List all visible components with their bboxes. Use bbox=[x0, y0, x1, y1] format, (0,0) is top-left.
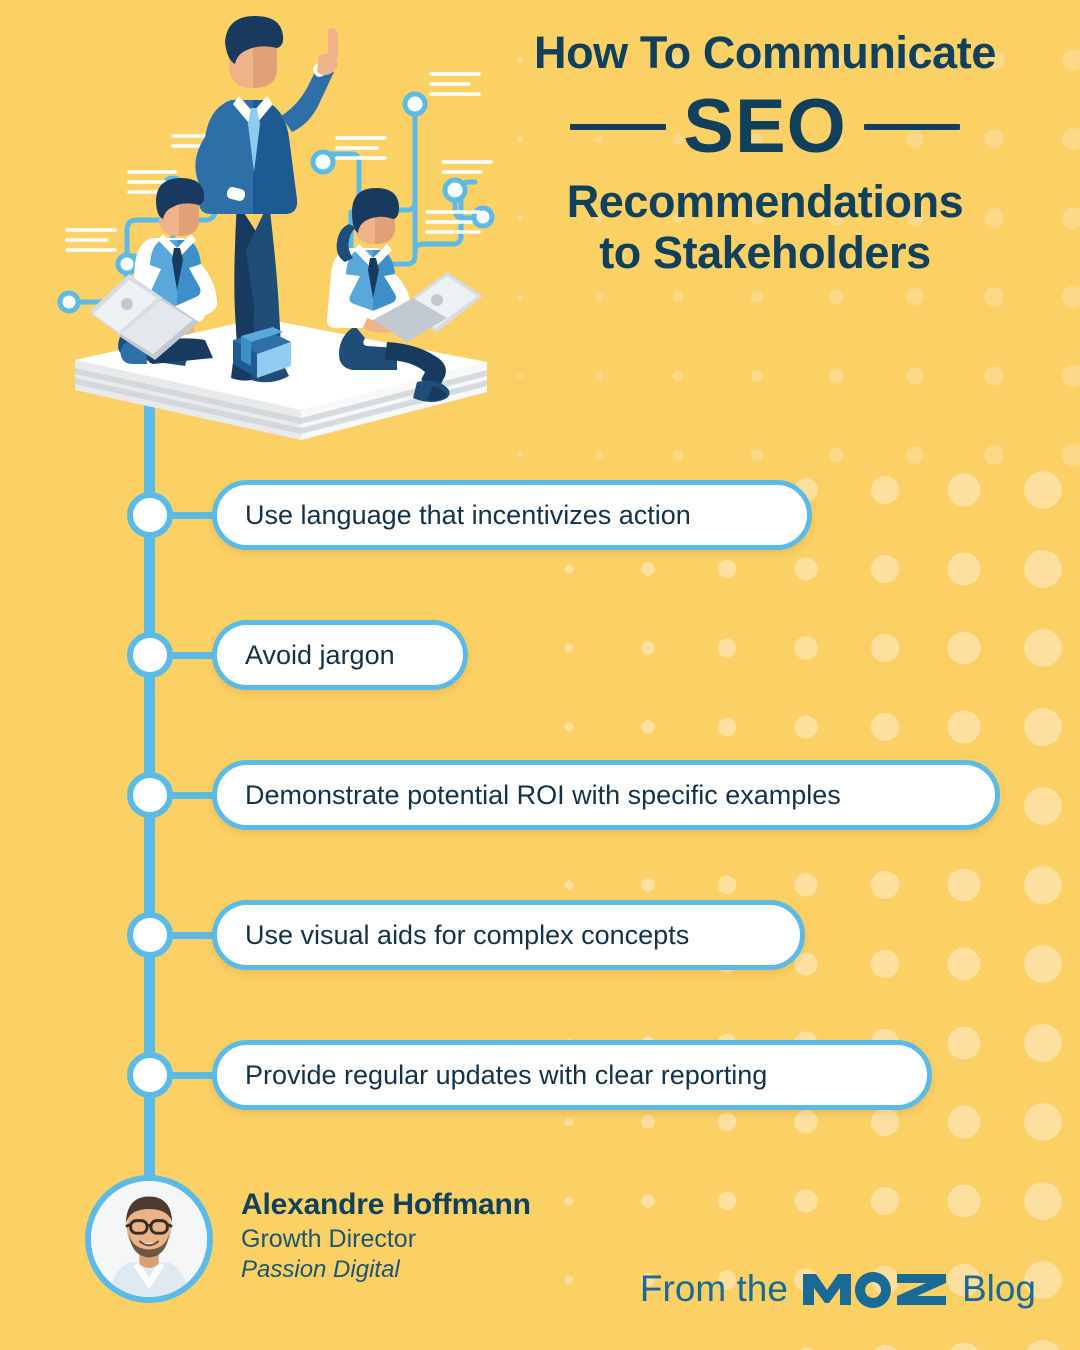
author-block: Alexandre Hoffmann Growth Director Passi… bbox=[85, 1175, 531, 1303]
tip-pill[interactable]: Demonstrate potential ROI with specific … bbox=[212, 760, 1000, 830]
title-line-1: How To Communicate bbox=[500, 28, 1030, 78]
tip-label: Provide regular updates with clear repor… bbox=[245, 1060, 767, 1091]
footer-prefix: From the bbox=[640, 1268, 788, 1310]
tip-pill[interactable]: Provide regular updates with clear repor… bbox=[212, 1040, 932, 1110]
timeline-node-1 bbox=[127, 492, 173, 538]
timeline-node-5 bbox=[127, 1052, 173, 1098]
tip-label: Use visual aids for complex concepts bbox=[245, 920, 689, 951]
page-title: How To Communicate SEO Recommendations t… bbox=[500, 28, 1030, 278]
author-company: Passion Digital bbox=[241, 1256, 531, 1285]
moz-logo-icon bbox=[801, 1268, 949, 1310]
author-role: Growth Director bbox=[241, 1224, 531, 1254]
timeline-connector-1 bbox=[170, 512, 218, 519]
footer-suffix: Blog bbox=[962, 1268, 1036, 1310]
timeline-connector-3 bbox=[170, 792, 218, 799]
tip-label: Use language that incentivizes action bbox=[245, 500, 691, 531]
timeline-connector-4 bbox=[170, 932, 218, 939]
timeline-node-3 bbox=[127, 772, 173, 818]
team-strategy-illustration bbox=[55, 12, 505, 442]
timeline-node-2 bbox=[127, 632, 173, 678]
author-name: Alexandre Hoffmann bbox=[241, 1187, 531, 1222]
title-line-3: Recommendations bbox=[500, 177, 1030, 227]
tip-pill[interactable]: Avoid jargon bbox=[212, 620, 468, 690]
timeline-connector-5 bbox=[170, 1072, 218, 1079]
timeline-node-4 bbox=[127, 912, 173, 958]
avatar bbox=[85, 1175, 213, 1303]
rule-right bbox=[864, 124, 960, 130]
rule-left bbox=[570, 124, 666, 130]
tip-pill[interactable]: Use language that incentivizes action bbox=[212, 480, 812, 550]
tip-label: Avoid jargon bbox=[245, 640, 395, 671]
seo-heading-row: SEO bbox=[500, 89, 1030, 165]
seo-word: SEO bbox=[683, 89, 847, 165]
moz-blog-attribution: From the Blog bbox=[640, 1268, 1036, 1310]
avatar-photo bbox=[91, 1181, 207, 1297]
author-text: Alexandre Hoffmann Growth Director Passi… bbox=[241, 1175, 531, 1285]
tip-pill[interactable]: Use visual aids for complex concepts bbox=[212, 900, 805, 970]
tip-label: Demonstrate potential ROI with specific … bbox=[245, 780, 841, 811]
timeline-connector-2 bbox=[170, 652, 218, 659]
title-line-4: to Stakeholders bbox=[500, 228, 1030, 278]
